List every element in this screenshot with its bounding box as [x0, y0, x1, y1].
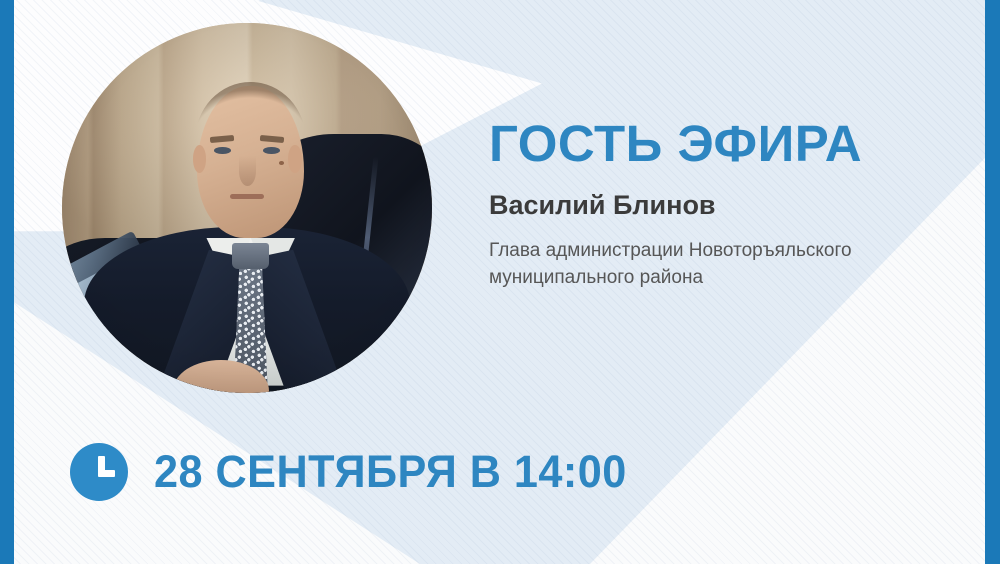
portrait-mouth	[230, 194, 263, 199]
schedule-strip: 28 СЕНТЯБРЯ В 14:00	[70, 443, 646, 501]
broadcast-guest-banner: ГОСТЬ ЭФИРА Василий Блинов Глава админис…	[0, 0, 1000, 564]
portrait-nose	[239, 156, 256, 186]
clock-icon	[70, 443, 128, 501]
schedule-text: 28 СЕНТЯБРЯ В 14:00	[154, 446, 627, 498]
portrait-eye-left	[214, 147, 231, 154]
guest-info-block: ГОСТЬ ЭФИРА Василий Блинов Глава админис…	[489, 118, 959, 292]
right-blue-rail	[985, 0, 1000, 564]
portrait-necktie-knot	[232, 243, 269, 269]
portrait-eye-right	[263, 147, 280, 154]
guest-role: Глава администрации Новоторъяльского мун…	[489, 237, 959, 292]
guest-name: Василий Блинов	[489, 191, 959, 221]
headline: ГОСТЬ ЭФИРА	[489, 118, 959, 169]
clock-hand-horizontal	[98, 470, 115, 477]
guest-role-line-1: Глава администрации Новоторъяльского	[489, 240, 852, 261]
guest-portrait	[62, 23, 432, 393]
guest-role-line-2: муниципального района	[489, 267, 703, 288]
left-blue-rail	[0, 0, 14, 564]
portrait-ear-right	[288, 145, 301, 173]
